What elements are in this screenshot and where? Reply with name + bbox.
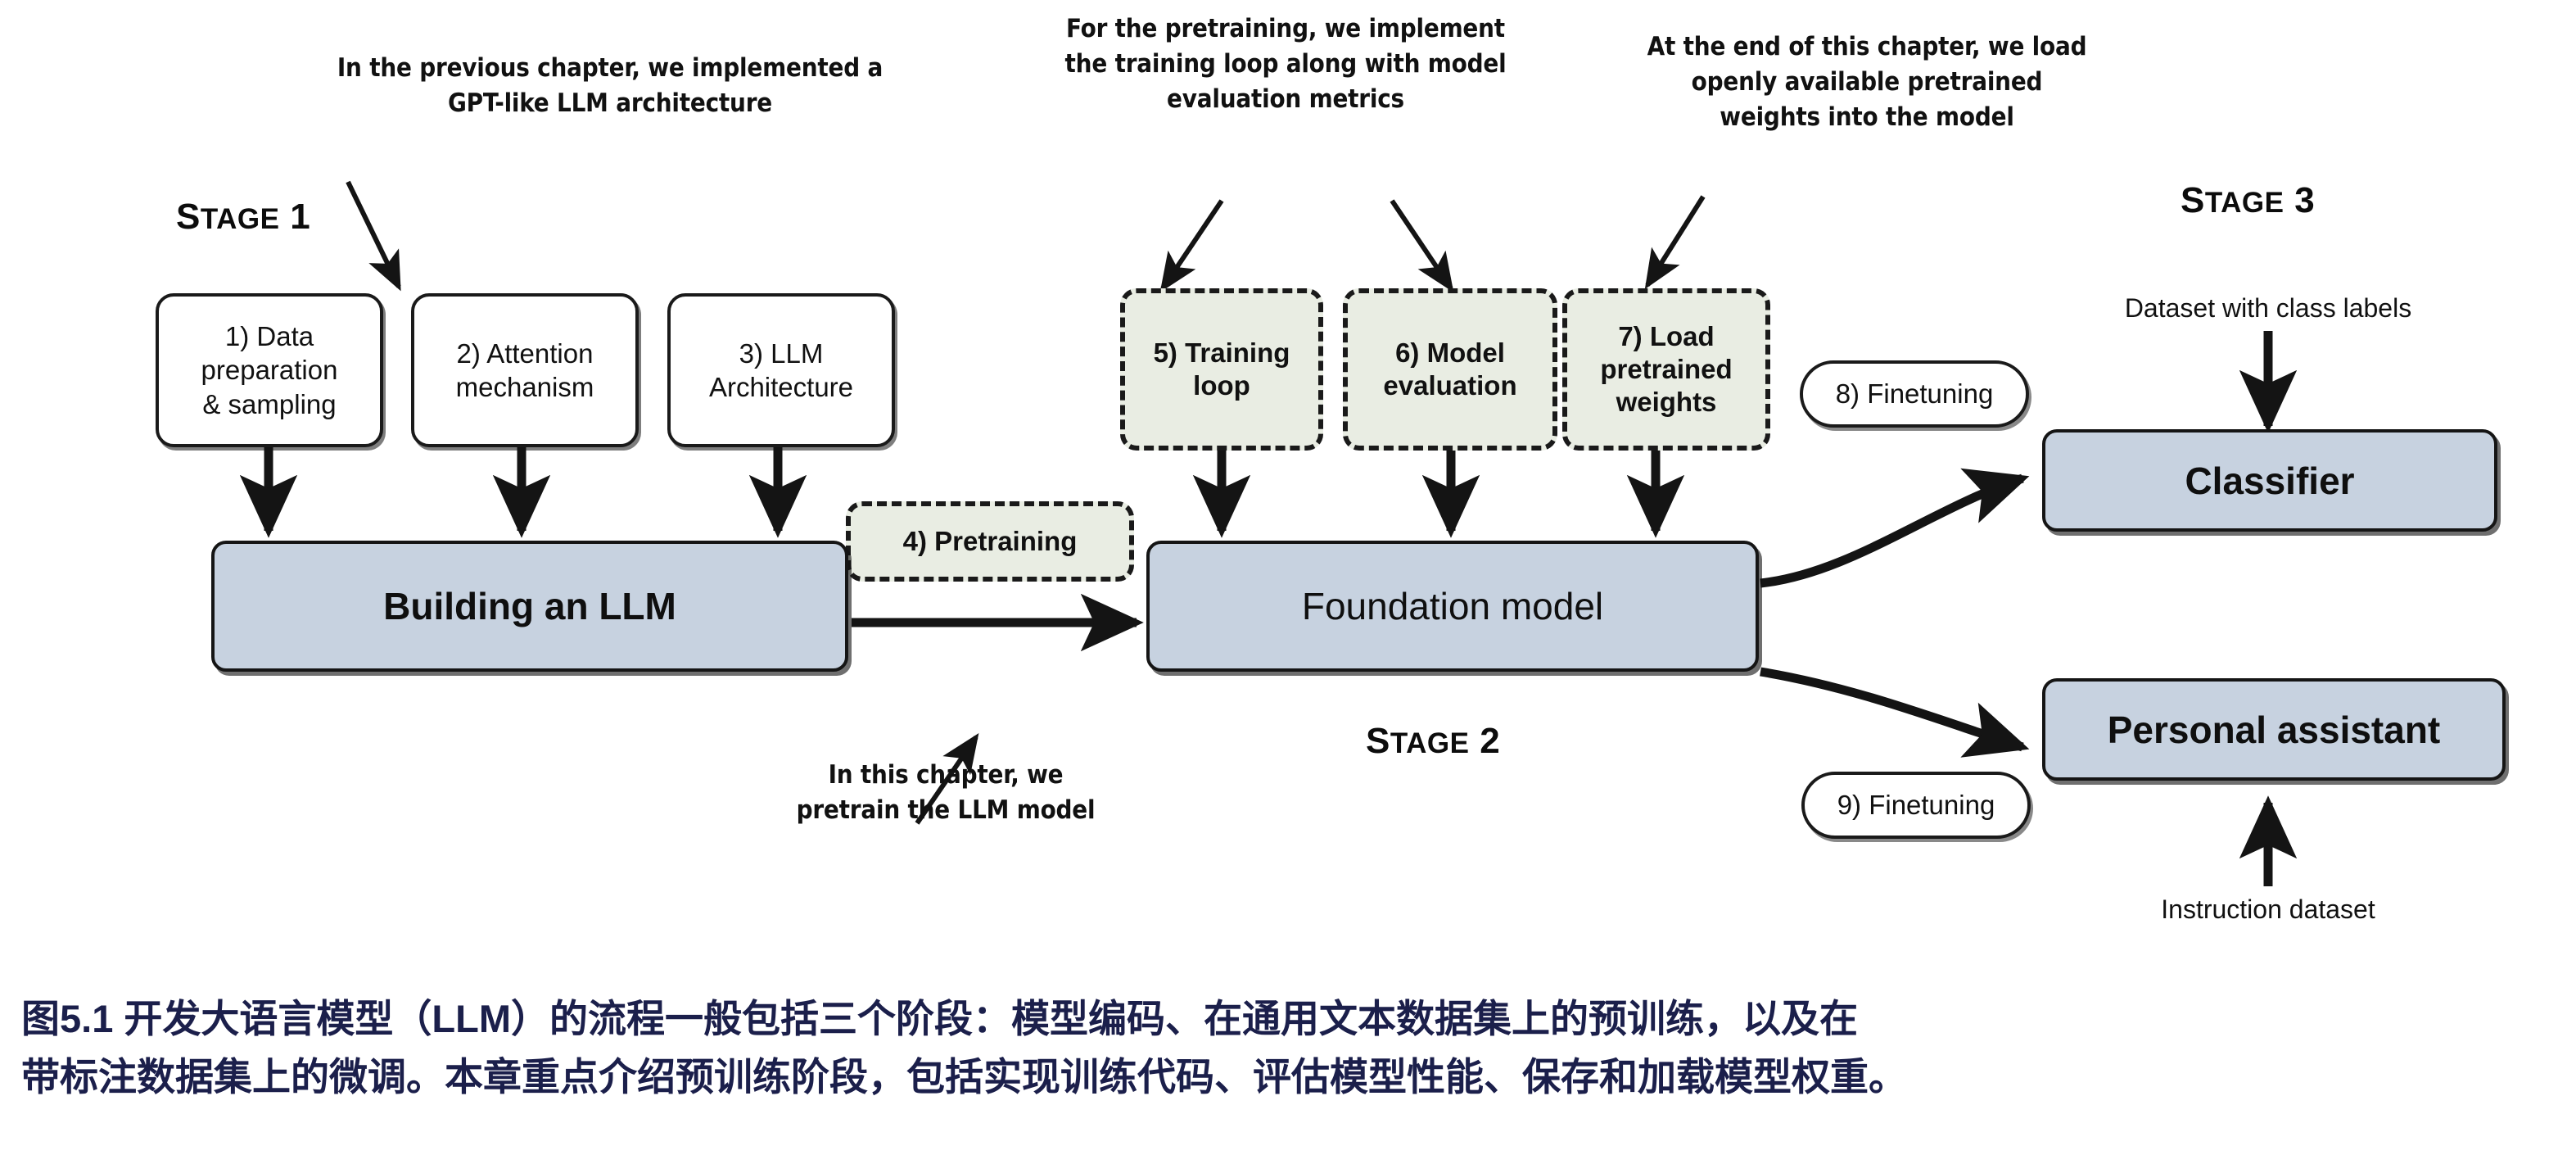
foundation-model-label: Foundation model [1302, 584, 1603, 628]
step-box-6-model-evaluation[interactable]: 6) Model evaluation [1343, 288, 1557, 451]
stage-2-rest: TAGE [1390, 727, 1470, 759]
instruction-dataset-text: Instruction dataset [2063, 894, 2473, 925]
personal-assistant-label: Personal assistant [2108, 708, 2441, 752]
pretraining-dashed-box[interactable]: 4) Pretraining [846, 501, 1134, 582]
foundation-model-box[interactable]: Foundation model [1146, 541, 1759, 672]
step-6-line-1: 6) Model [1395, 337, 1505, 369]
step-2-line-2: mechanism [456, 370, 594, 404]
caption-line-1: 图5.1 开发大语言模型（LLM）的流程一般包括三个阶段：模型编码、在通用文本数… [21, 990, 2555, 1048]
stage-3-heading: STAGE 3 [2181, 180, 2315, 221]
step-7-line-1: 7) Load [1618, 320, 1714, 353]
stage-3-initial: S [2181, 180, 2205, 220]
finetuning-pill-9[interactable]: 9) Finetuning [1801, 772, 2031, 839]
step-1-line-1: 1) Data [225, 319, 314, 353]
foundation-to-classifier-arrow [1760, 478, 2022, 583]
figure-caption: 图5.1 开发大语言模型（LLM）的流程一般包括三个阶段：模型编码、在通用文本数… [0, 990, 2576, 1107]
stage-1-number: 1 [280, 197, 311, 237]
step-box-3-llm-architecture[interactable]: 3) LLM Architecture [667, 293, 895, 447]
stage-1-heading: STAGE 1 [176, 197, 310, 238]
stage-1-initial: S [176, 197, 201, 237]
step-6-line-2: evaluation [1383, 369, 1516, 402]
step-box-2-attention-mechanism[interactable]: 2) Attention mechanism [411, 293, 639, 447]
building-an-llm-box[interactable]: Building an LLM [211, 541, 848, 672]
step-7-line-2: pretrained [1600, 353, 1732, 386]
stage-3-rest: TAGE [2205, 187, 2285, 219]
step-5-line-1: 5) Training [1154, 337, 1290, 369]
step-box-5-training-loop[interactable]: 5) Training loop [1120, 288, 1323, 451]
step-3-line-1: 3) LLM [739, 337, 824, 370]
building-an-llm-label: Building an LLM [383, 584, 676, 628]
finetuning-9-label: 9) Finetuning [1837, 790, 1995, 821]
personal-assistant-box[interactable]: Personal assistant [2042, 678, 2506, 781]
classifier-label: Classifier [2185, 459, 2354, 503]
caption-line-2: 带标注数据集上的微调。本章重点介绍预训练阶段，包括实现训练代码、评估模型性能、保… [21, 1048, 2555, 1106]
stage-3-number: 3 [2285, 180, 2316, 220]
step-1-line-2: preparation [201, 353, 338, 387]
foundation-to-assistant-arrow [1760, 672, 2022, 747]
step-box-1-data-preparation[interactable]: 1) Data preparation & sampling [156, 293, 383, 447]
anno-load-weights: At the end of this chapter, we load open… [1597, 29, 2137, 134]
classifier-box[interactable]: Classifier [2042, 429, 2497, 532]
step-1-line-3: & sampling [202, 387, 336, 421]
stage-2-number: 2 [1470, 721, 1501, 761]
stage1-down-arrow [269, 446, 778, 531]
anno-prev-chapter: In the previous chapter, we implemented … [282, 51, 938, 121]
step-5-line-2: loop [1193, 369, 1250, 402]
step-2-line-1: 2) Attention [457, 337, 594, 370]
stage2-down-arrow [1222, 449, 1656, 531]
stage-1-rest: TAGE [201, 203, 280, 235]
step-box-7-load-pretrained-weights[interactable]: 7) Load pretrained weights [1562, 288, 1770, 451]
stage-2-heading: STAGE 2 [1366, 721, 1500, 762]
dataset-with-class-labels-text: Dataset with class labels [2022, 293, 2514, 324]
step-3-line-2: Architecture [709, 370, 853, 404]
anno-this-chapter: In this chapter, we pretrain the LLM mod… [692, 758, 1200, 828]
step-7-line-3: weights [1616, 386, 1717, 419]
llm-development-flowchart: In the previous chapter, we implemented … [0, 0, 2576, 983]
anno-pretraining-loop: For the pretraining, we implement the tr… [1019, 11, 1552, 116]
finetuning-pill-8[interactable]: 8) Finetuning [1800, 360, 2029, 428]
stage-2-initial: S [1366, 721, 1390, 761]
pretraining-label: 4) Pretraining [903, 525, 1078, 558]
finetuning-8-label: 8) Finetuning [1836, 378, 1994, 410]
